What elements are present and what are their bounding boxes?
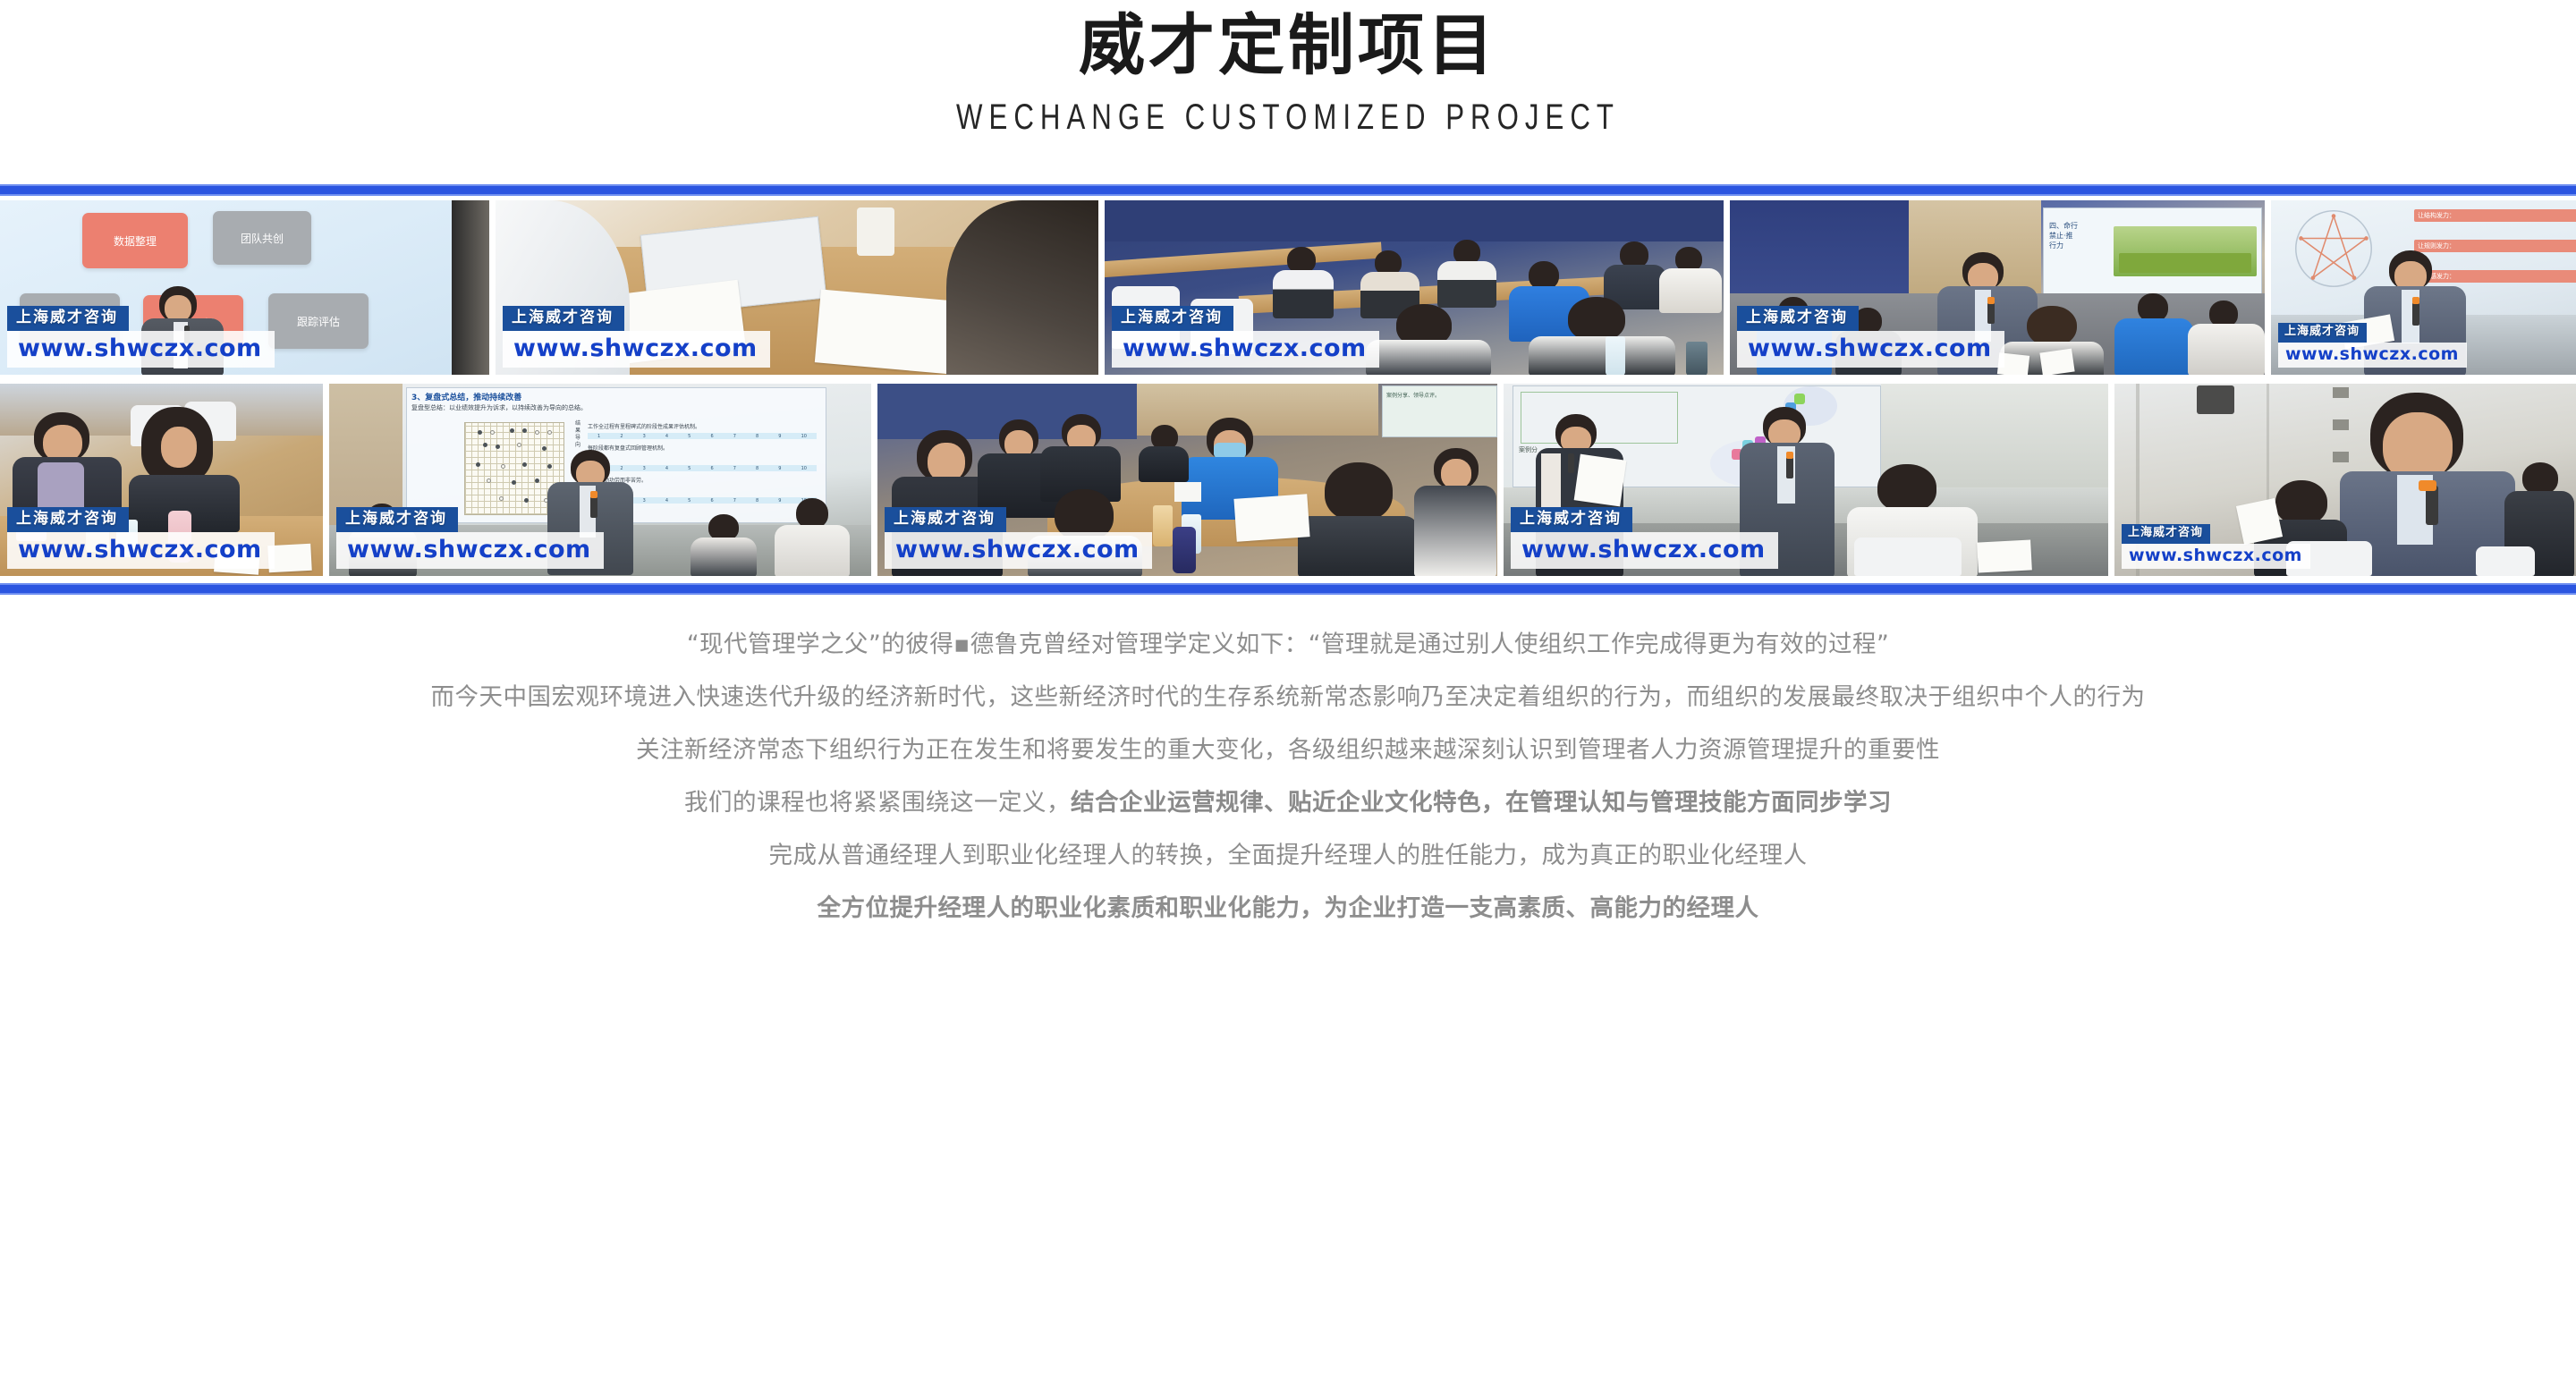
slide-scale-0: 12345678910 (588, 433, 817, 439)
watermark: 上海威才咨询 www.shwczx.com (885, 507, 1152, 569)
watermark-url: www.shwczx.com (7, 532, 275, 569)
page-subtitle: WECHANGE CUSTOMIZED PROJECT (284, 97, 2292, 138)
scene-person-blue (2114, 293, 2195, 375)
watermark-badge: 上海威才咨询 (503, 306, 624, 331)
watermark-badge: 上海威才咨询 (1112, 306, 1233, 331)
photo-trainer-star-slide[interactable]: 让结构发力： 让规则发力： 让情感发力： 上海威才咨询 www.shwczx.c… (2271, 200, 2576, 375)
footer-line-2: 而今天中国宏观环境进入快速迭代升级的经济新时代，这些新经济时代的生存系统新常态影… (0, 671, 2576, 724)
photo-group-table-discussion[interactable]: 案例分享、领导点评。 (877, 384, 1497, 576)
slide-subtitle: 复盘型总结：以业绩效提升为诉求，以持续改善为导向的总结。 (407, 403, 826, 415)
slide-chip-0: 数据整理 (82, 213, 188, 268)
photo-projector-cards[interactable]: 数据整理 团队共创 计划制定 问题分析 跟踪评估 上海威才咨询 www.shwc… (0, 200, 489, 375)
slide-chip-4: 跟踪评估 (268, 293, 369, 349)
scene-wall-edge (452, 200, 489, 375)
photo-trainer-closeup-microphone[interactable]: 上海威才咨询 www.shwczx.com (2114, 384, 2576, 576)
watermark-url: www.shwczx.com (7, 331, 275, 368)
scene-person (775, 498, 852, 576)
footer-line-4-normal: 我们的课程也将紧紧围绕这一定义， (684, 789, 1071, 817)
photo-desk-documents[interactable]: 上海威才咨询 www.shwczx.com (496, 200, 1098, 375)
watermark: 上海威才咨询 www.shwczx.com (1737, 306, 2004, 368)
watermark-url: www.shwczx.com (885, 532, 1152, 569)
watermark: 上海威才咨询 www.shwczx.com (2122, 524, 2310, 569)
watermark-badge: 上海威才咨询 (1737, 306, 1859, 331)
watermark-url: www.shwczx.com (336, 532, 604, 569)
watermark-badge: 上海威才咨询 (7, 507, 129, 532)
scene-projector-slide: 四、命行禁止·推行力 (2043, 207, 2262, 295)
watermark-badge: 上海威才咨询 (1511, 507, 1632, 532)
photo-presenter-review-slide[interactable]: 3、复盘式总结，推动持续改善 复盘型总结：以业绩效提升为诉求，以持续改善为导向的… (329, 384, 871, 576)
watermark: 上海威才咨询 www.shwczx.com (7, 507, 275, 569)
footer-description: “现代管理学之父”的彼得▪德鲁克曾经对管理学定义如下：“管理就是通过别人使组织工… (0, 595, 2576, 935)
watermark: 上海威才咨询 www.shwczx.com (1511, 507, 1778, 569)
watermark-badge: 上海威才咨询 (2122, 524, 2210, 543)
watermark-url: www.shwczx.com (1737, 331, 2004, 368)
footer-line-6: 全方位提升经理人的职业化素质和职业化能力，为企业打造一支高素质、高能力的经理人 (0, 882, 2576, 935)
watermark-url: www.shwczx.com (503, 331, 770, 368)
watermark: 上海威才咨询 www.shwczx.com (336, 507, 604, 569)
gallery-row-top: 数据整理 团队共创 计划制定 问题分析 跟踪评估 上海威才咨询 www.shwc… (0, 200, 2576, 375)
watermark: 上海威才咨询 www.shwczx.com (7, 306, 275, 368)
slide-title: 3、复盘式总结，推动持续改善 (407, 388, 826, 403)
watermark-badge: 上海威才咨询 (7, 306, 129, 331)
scene-person (1437, 240, 1500, 308)
scene-speaker (2197, 385, 2234, 414)
photo-two-presenters-puzzle-slide[interactable]: 案例分 (1504, 384, 2108, 576)
scene-person-right (946, 200, 1098, 375)
scene-person (1139, 425, 1191, 480)
photo-gallery: 数据整理 团队共创 计划制定 问题分析 跟踪评估 上海威才咨询 www.shwc… (0, 200, 2576, 576)
scene-person-front (1298, 462, 1419, 576)
watermark-badge: 上海威才咨询 (336, 507, 458, 532)
watermark-url: www.shwczx.com (2122, 544, 2310, 570)
watermark-badge: 上海威才咨询 (885, 507, 1006, 532)
slide-label-0: 让结构发力： (2414, 209, 2576, 222)
photo-trainer-microphone-hall[interactable]: 四、命行禁止·推行力 (1730, 200, 2265, 375)
watermark: 上海威才咨询 www.shwczx.com (2278, 323, 2467, 368)
watermark: 上海威才咨询 www.shwczx.com (503, 306, 770, 368)
divider-top (0, 184, 2576, 196)
scene-person (691, 514, 758, 576)
watermark: 上海威才咨询 www.shwczx.com (1112, 306, 1379, 368)
page-title: 威才定制项目 (0, 7, 2576, 85)
gallery-row-bottom: 上海威才咨询 www.shwczx.com 3、复盘式总结，推动持续改善 复盘型… (0, 384, 2576, 576)
scene-person (1040, 414, 1123, 500)
watermark-url: www.shwczx.com (1112, 331, 1379, 368)
photo-classroom-writing[interactable]: 上海威才咨询 www.shwczx.com (1105, 200, 1724, 375)
footer-line-3: 关注新经济常态下组织行为正在发生和将要发生的重大变化，各级组织越来越深刻认识到管… (0, 724, 2576, 776)
footer-line-1: “现代管理学之父”的彼得▪德鲁克曾经对管理学定义如下：“管理就是通过别人使组织工… (0, 618, 2576, 671)
page-header: 威才定制项目 WECHANGE CUSTOMIZED PROJECT (0, 0, 2576, 138)
scene-person-front (1360, 304, 1495, 375)
watermark-url: www.shwczx.com (1511, 532, 1778, 569)
footer-line-4: 我们的课程也将紧紧围绕这一定义，结合企业运营规律、贴近企业文化特色，在管理认知与… (0, 776, 2576, 829)
watermark-badge: 上海威才咨询 (2278, 323, 2367, 342)
scene-name-card (1174, 482, 1201, 502)
divider-bottom (0, 583, 2576, 595)
scene-person (2188, 301, 2265, 375)
photo-two-women-discussion[interactable]: 上海威才咨询 www.shwczx.com (0, 384, 323, 576)
scene-person-front (1525, 297, 1677, 375)
footer-line-4-bold: 结合企业运营规律、贴近企业文化特色，在管理认知与管理技能方面同步学习 (1071, 789, 1892, 817)
scene-person (1414, 448, 1497, 576)
scene-projector-slide: 案例分享、领导点评。 (1382, 385, 1497, 437)
slide-chip-1: 团队共创 (213, 211, 311, 265)
scene-cup (857, 207, 894, 256)
watermark-url: www.shwczx.com (2278, 343, 2467, 368)
footer-line-5: 完成从普通经理人到职业化经理人的转换，全面提升经理人的胜任能力，成为真正的职业化… (0, 829, 2576, 882)
scene-blue-wall (1105, 200, 1724, 241)
